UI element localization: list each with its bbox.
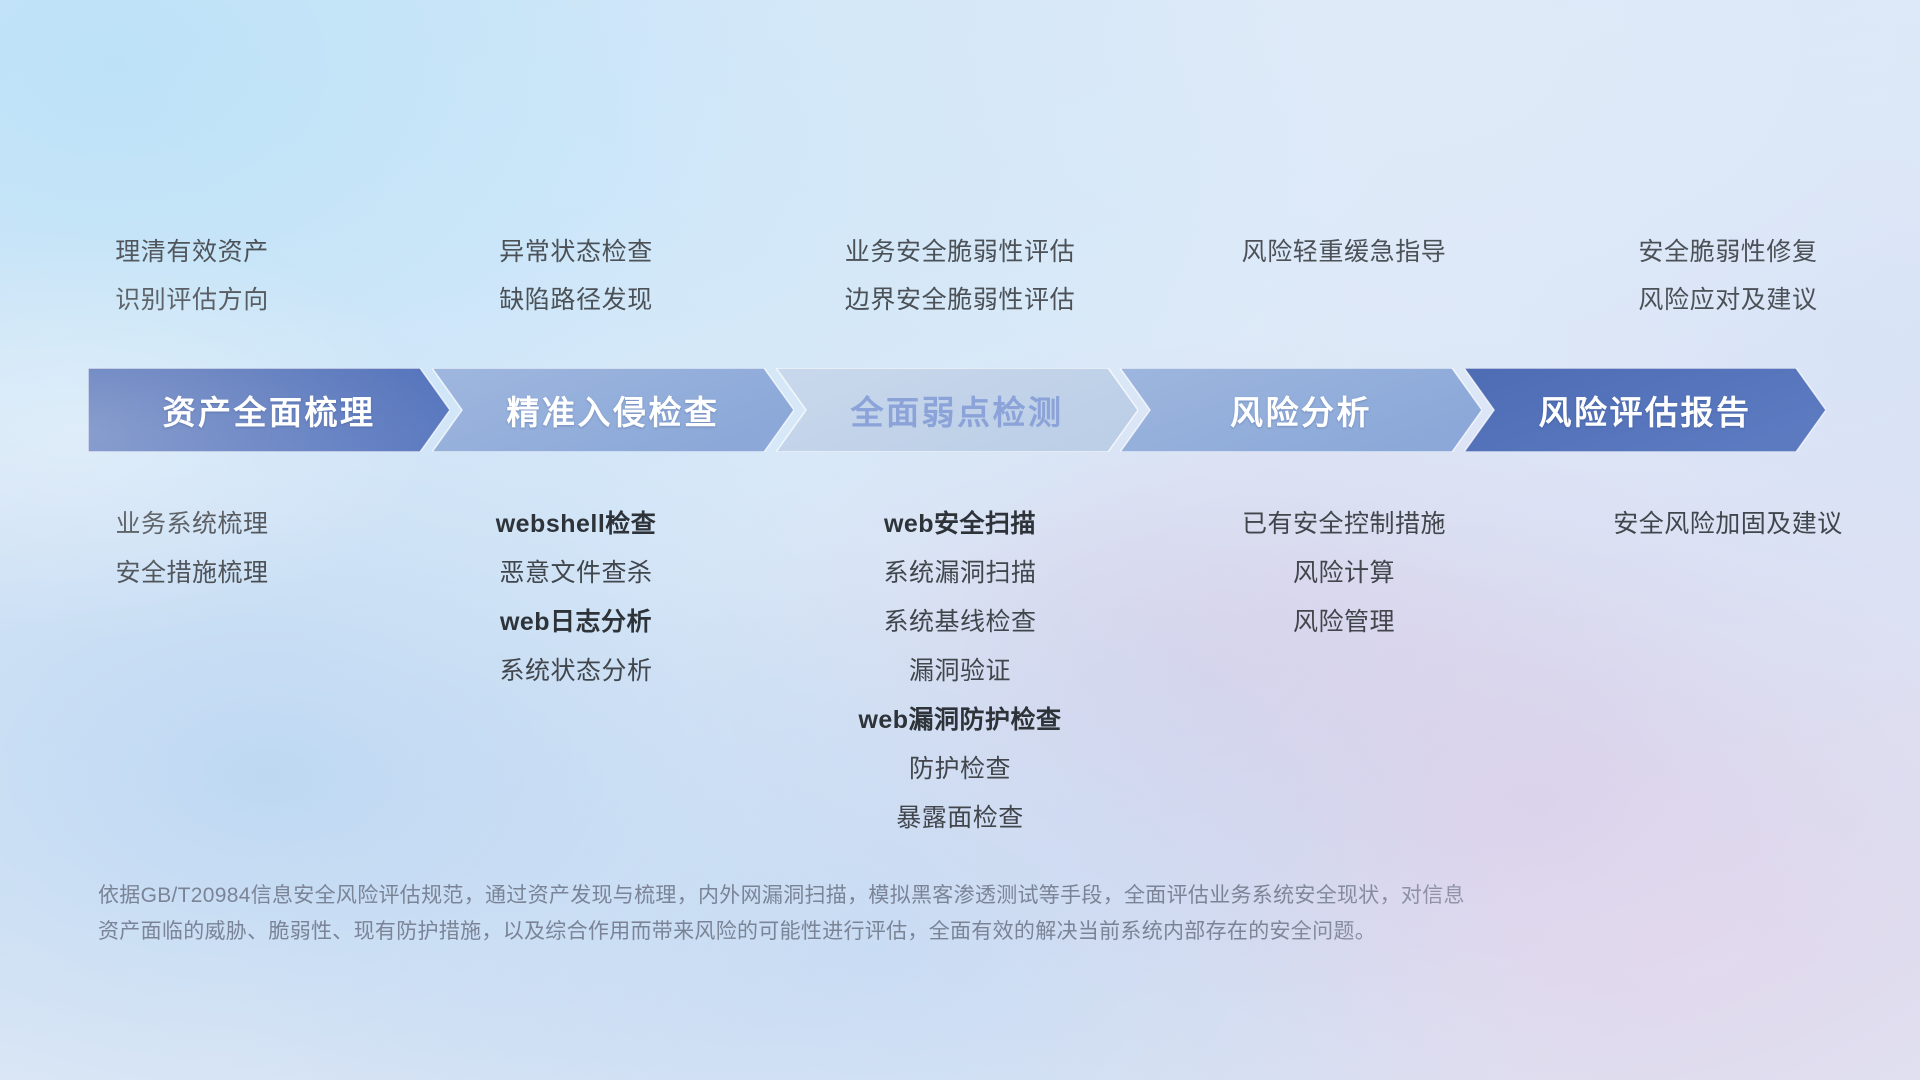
detail-item: 风险管理 <box>1293 598 1395 647</box>
detail-item: 系统基线检查 <box>883 598 1036 647</box>
top-label: 识别评估方向 <box>115 276 269 324</box>
footer-line-1: 依据GB/T20984信息安全风险评估规范，通过资产发现与梳理，内外网漏洞扫描，… <box>98 878 1748 914</box>
detail-item: 业务系统梳理 <box>115 500 268 549</box>
footer-line-2: 资产面临的威胁、脆弱性、现有防护措施，以及综合作用而带来风险的可能性进行评估，全… <box>98 914 1748 950</box>
top-label: 风险应对及建议 <box>1638 276 1817 324</box>
detail-item: 风险计算 <box>1293 549 1395 598</box>
top-label: 安全脆弱性修复 <box>1638 228 1817 276</box>
detail-item: 恶意文件查杀 <box>499 549 652 598</box>
detail-item: 漏洞验证 <box>909 647 1011 696</box>
top-label: 边界安全脆弱性评估 <box>845 276 1075 324</box>
process-stage-risk-analysis[interactable]: 风险分析 <box>1120 368 1482 452</box>
detail-item: 安全措施梳理 <box>115 549 268 598</box>
detail-item: 系统漏洞扫描 <box>883 549 1036 598</box>
detail-item: 防护检查 <box>909 745 1011 794</box>
detail-group-intrusion-check: webshell检查恶意文件查杀web日志分析系统状态分析 <box>384 500 768 843</box>
top-label: 理清有效资产 <box>115 228 269 276</box>
stage-label: 风险分析 <box>1230 386 1372 434</box>
detail-group-weakness-detection: web安全扫描系统漏洞扫描系统基线检查漏洞验证web漏洞防护检查防护检查暴露面检… <box>768 500 1152 843</box>
detail-item: webshell检查 <box>496 500 657 549</box>
process-chevron-band: 资产全面梳理精准入侵检查全面弱点检测风险分析风险评估报告 <box>88 368 1838 452</box>
process-stage-asset-inventory[interactable]: 资产全面梳理 <box>88 368 450 452</box>
footer-description: 依据GB/T20984信息安全风险评估规范，通过资产发现与梳理，内外网漏洞扫描，… <box>98 878 1748 950</box>
top-label: 风险轻重缓急指导 <box>1242 228 1447 276</box>
stage-label: 全面弱点检测 <box>851 386 1064 434</box>
detail-item: 系统状态分析 <box>499 647 652 696</box>
stage-label: 精准入侵检查 <box>507 386 720 434</box>
top-label: 缺陷路径发现 <box>499 276 653 324</box>
stage-label: 资产全面梳理 <box>163 386 376 434</box>
detail-group-risk-analysis: 已有安全控制措施风险计算风险管理 <box>1152 500 1536 843</box>
process-stage-assessment-report[interactable]: 风险评估报告 <box>1464 368 1826 452</box>
top-label: 异常状态检查 <box>499 228 653 276</box>
detail-group-assessment-report: 安全风险加固及建议 <box>1536 500 1920 843</box>
process-stage-intrusion-check[interactable]: 精准入侵检查 <box>432 368 794 452</box>
detail-item: web漏洞防护检查 <box>858 696 1061 745</box>
bottom-detail-row: 业务系统梳理安全措施梳理webshell检查恶意文件查杀web日志分析系统状态分… <box>0 500 1920 843</box>
top-label-group-risk-analysis: 风险轻重缓急指导 <box>1152 228 1536 338</box>
top-label-row: 理清有效资产识别评估方向异常状态检查缺陷路径发现业务安全脆弱性评估边界安全脆弱性… <box>0 228 1920 338</box>
process-stage-weakness-detection[interactable]: 全面弱点检测 <box>776 368 1138 452</box>
slide-canvas: 理清有效资产识别评估方向异常状态检查缺陷路径发现业务安全脆弱性评估边界安全脆弱性… <box>0 0 1920 1080</box>
detail-item: 安全风险加固及建议 <box>1613 500 1843 549</box>
top-label-group-weakness-detection: 业务安全脆弱性评估边界安全脆弱性评估 <box>768 228 1152 338</box>
stage-label: 风险评估报告 <box>1539 386 1752 434</box>
detail-item: web安全扫描 <box>884 500 1036 549</box>
detail-group-asset-inventory: 业务系统梳理安全措施梳理 <box>0 500 384 843</box>
top-label-group-assessment-report: 安全脆弱性修复风险应对及建议 <box>1536 228 1920 338</box>
detail-item: 已有安全控制措施 <box>1242 500 1446 549</box>
detail-item: 暴露面检查 <box>896 794 1024 843</box>
top-label-group-asset-inventory: 理清有效资产识别评估方向 <box>0 228 384 338</box>
top-label: 业务安全脆弱性评估 <box>845 228 1075 276</box>
detail-item: web日志分析 <box>500 598 652 647</box>
top-label-group-intrusion-check: 异常状态检查缺陷路径发现 <box>384 228 768 338</box>
